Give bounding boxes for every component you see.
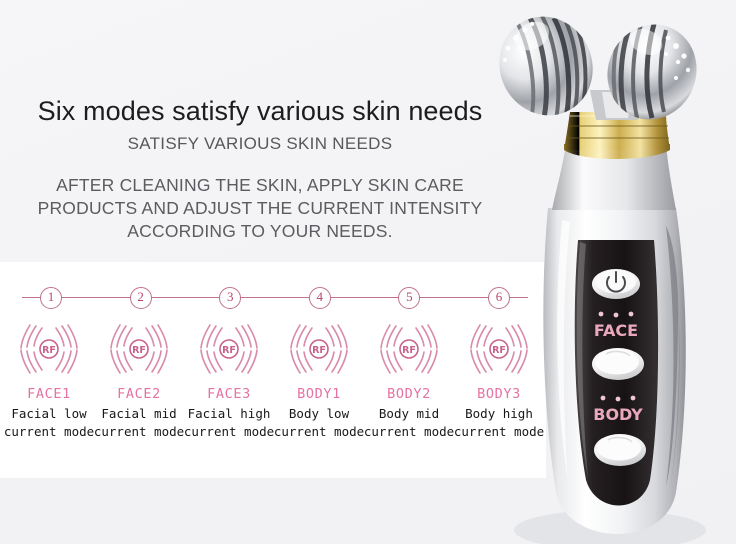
body-button	[594, 434, 646, 466]
mode-description: Body low current mode	[274, 405, 364, 441]
led-dot	[629, 312, 634, 317]
mode-name: FACE1	[27, 386, 71, 402]
body-copy-line-2: PRODUCTS AND ADJUST THE CURRENT INTENSIT…	[0, 197, 520, 220]
led-dot	[616, 397, 621, 402]
body-label: BODY	[593, 405, 643, 424]
control-panel: FACE BODY	[575, 240, 658, 506]
mode-item-face1: RF FACE1 Facial low current mode	[4, 318, 94, 441]
mode-name: BODY2	[387, 386, 431, 402]
svg-text:RF: RF	[42, 345, 56, 356]
led-dot	[601, 396, 606, 401]
body-copy-line-1: AFTER CLEANING THE SKIN, APPLY SKIN CARE	[0, 174, 520, 197]
marketing-copy: Six modes satisfy various skin needs SAT…	[0, 96, 520, 243]
mode-name: FACE3	[207, 386, 251, 402]
mode-description: Facial high current mode	[184, 405, 274, 441]
mode-description-line-1: Facial mid	[94, 405, 184, 423]
rf-wave-icon: RF	[380, 318, 438, 380]
svg-text:RF: RF	[312, 345, 326, 356]
svg-text:RF: RF	[222, 345, 236, 356]
mode-description: Body mid current mode	[364, 405, 454, 441]
rf-wave-icon: RF	[290, 318, 348, 380]
body-copy-line-3: ACCORDING TO YOUR NEEDS.	[0, 220, 520, 243]
rf-wave-icon: RF	[110, 318, 168, 380]
timeline-node-4: 4	[309, 287, 331, 309]
mode-item-body2: RF BODY2 Body mid current mode	[364, 318, 454, 441]
mode-item-body1: RF BODY1 Body low current mode	[274, 318, 364, 441]
power-button	[592, 269, 640, 299]
subtitle: SATISFY VARIOUS SKIN NEEDS	[0, 134, 520, 154]
mode-description-line-2: current mode	[184, 423, 274, 441]
mode-description: Facial low current mode	[4, 405, 94, 441]
mode-description: Facial mid current mode	[94, 405, 184, 441]
roller-ball-left	[484, 2, 609, 131]
mode-name: FACE2	[117, 386, 161, 402]
timeline-nodes: 1 2 3 4 5 6	[22, 287, 528, 309]
mode-name: BODY1	[297, 386, 341, 402]
face-indicator-group: FACE	[594, 312, 638, 340]
mode-list: RF FACE1 Facial low current mode	[4, 318, 544, 441]
led-dot	[614, 313, 619, 318]
page-title: Six modes satisfy various skin needs	[0, 96, 520, 128]
product-device-image: FACE BODY	[470, 0, 736, 544]
timeline-node-5: 5	[398, 287, 420, 309]
mode-description-line-2: current mode	[94, 423, 184, 441]
rf-wave-icon: RF	[20, 318, 78, 380]
mode-description-line-2: current mode	[4, 423, 94, 441]
led-dot	[599, 312, 604, 317]
mode-item-face2: RF FACE2 Facial mid current mode	[94, 318, 184, 441]
svg-text:RF: RF	[132, 345, 146, 356]
svg-text:RF: RF	[402, 345, 416, 356]
rf-wave-icon: RF	[200, 318, 258, 380]
mode-description-line-1: Facial low	[4, 405, 94, 423]
mode-description-line-2: current mode	[364, 423, 454, 441]
mode-timeline: 1 2 3 4 5 6	[22, 287, 528, 309]
product-banner: Six modes satisfy various skin needs SAT…	[0, 0, 736, 544]
mode-description-line-2: current mode	[274, 423, 364, 441]
timeline-node-3: 3	[219, 287, 241, 309]
mode-description-line-1: Body mid	[364, 405, 454, 423]
face-label: FACE	[594, 321, 638, 340]
body-copy: AFTER CLEANING THE SKIN, APPLY SKIN CARE…	[0, 174, 520, 243]
led-dot	[631, 396, 636, 401]
mode-description-line-1: Facial high	[184, 405, 274, 423]
timeline-node-1: 1	[40, 287, 62, 309]
mode-description-line-1: Body low	[274, 405, 364, 423]
mode-item-face3: RF FACE3 Facial high current mode	[184, 318, 274, 441]
face-button	[592, 348, 644, 380]
timeline-node-2: 2	[130, 287, 152, 309]
